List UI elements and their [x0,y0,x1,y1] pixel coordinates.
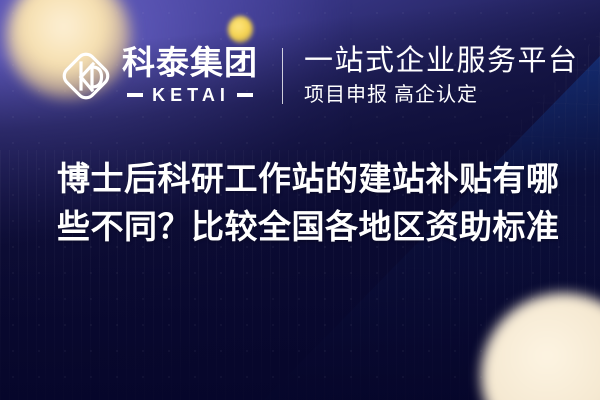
brand-name-cn: 科泰集团 [122,46,258,81]
header-divider [282,48,283,104]
headline-line-1: 博士后科研工作站的建站补贴有哪 [57,155,557,203]
banner-header: 科泰集团 KETAI 一站式企业服务平台 项目申报 高企认定 [58,40,579,112]
brand-name-en-row: KETAI [122,85,258,106]
tagline-primary: 一站式企业服务平台 [304,44,579,78]
headline-line-2: 些不同？比较全国各地区资助标准 [57,203,557,251]
ketai-diamond-monogram-icon [58,48,114,104]
logo-text-block: 科泰集团 KETAI [122,46,258,106]
page-title: 博士后科研工作站的建站补贴有哪 些不同？比较全国各地区资助标准 [57,155,557,251]
dash-right-icon [237,93,253,97]
gold-dot-blob [228,16,253,43]
dash-left-icon [127,93,143,97]
tagline-secondary: 项目申报 高企认定 [304,82,579,108]
brand-name-en: KETAI [152,85,230,106]
tagline-block: 一站式企业服务平台 项目申报 高企认定 [304,44,579,107]
promo-banner: 科泰集团 KETAI 一站式企业服务平台 项目申报 高企认定 博士后科研工作站的… [0,0,600,400]
